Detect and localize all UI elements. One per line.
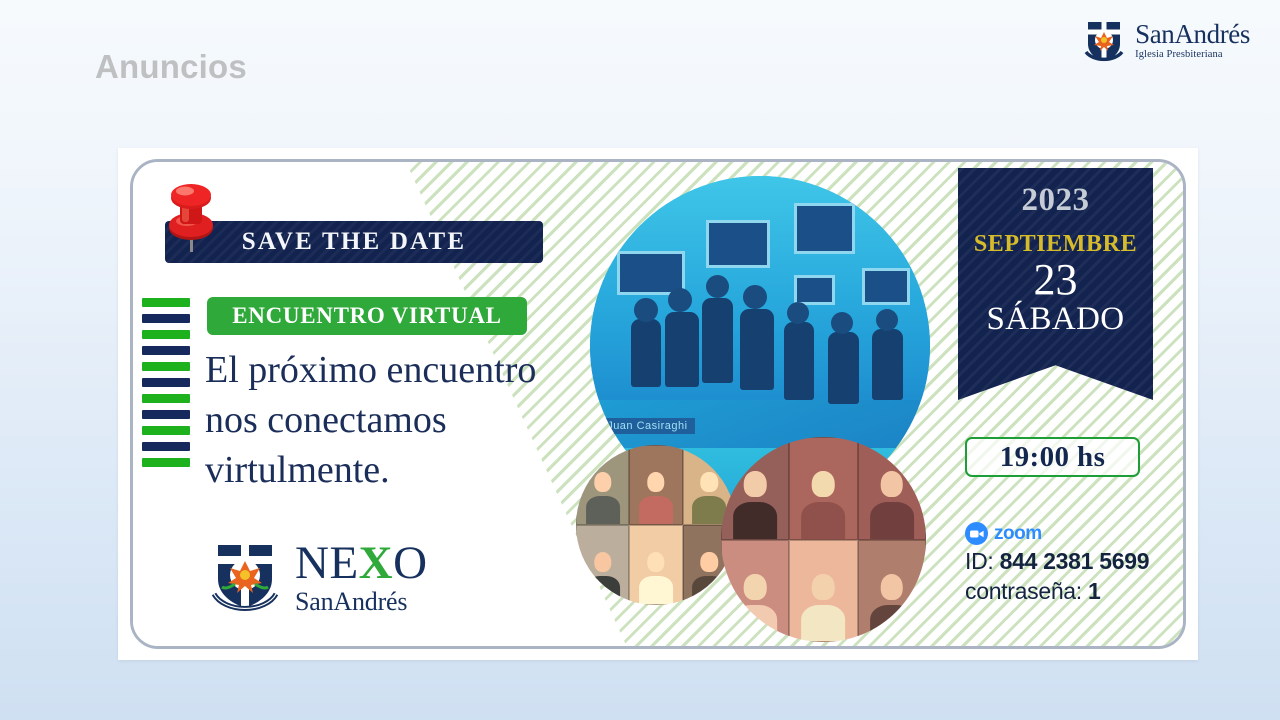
- zoom-wordmark: zoom: [994, 523, 1042, 545]
- tick-mark: [142, 458, 190, 467]
- tick-mark: [142, 330, 190, 339]
- nexo-word-pre: NE: [295, 537, 359, 589]
- shield-crest-icon: [209, 540, 281, 614]
- tick-mark: [142, 298, 190, 307]
- brand-subtitle: Iglesia Presbiteriana: [1135, 50, 1250, 61]
- nexo-subtitle: SanAndrés: [295, 589, 428, 614]
- page-header: Anuncios SanAndrés Iglesia Presbiteriana: [0, 0, 1280, 120]
- tick-mark: [142, 378, 190, 387]
- zoom-password: contraseña: 1: [965, 578, 1149, 605]
- brand-text: SanAndrés Iglesia Presbiteriana: [1135, 21, 1250, 61]
- tick-mark: [142, 362, 190, 371]
- photo-caption-overlay: Juan Casiraghi: [600, 418, 694, 434]
- page-title: Anuncios: [95, 48, 247, 86]
- zoom-id-prefix: ID:: [965, 548, 1000, 574]
- tick-mark: [142, 426, 190, 435]
- headline-line-1: El próximo encuentro: [205, 345, 625, 395]
- zoom-brand: zoom: [965, 522, 1149, 545]
- tick-mark: [142, 442, 190, 451]
- pushpin-icon: [161, 176, 223, 256]
- tick-mark: [142, 410, 190, 419]
- nexo-wordmark: NEXO SanAndrés: [295, 540, 428, 615]
- flyer-inner-frame: SAVE THE DATE ENCUENTRO VIRTUAL El próxi…: [130, 159, 1186, 649]
- tick-mark-stack: [142, 298, 190, 467]
- encuentro-virtual-label: ENCUENTRO VIRTUAL: [232, 303, 501, 329]
- flyer-card: SAVE THE DATE ENCUENTRO VIRTUAL El próxi…: [118, 148, 1198, 660]
- headline-line-2: nos conectamos: [205, 395, 625, 445]
- nexo-word: NEXO: [295, 540, 428, 586]
- time-badge: 19:00 hs: [965, 437, 1140, 477]
- nexo-word-post: O: [393, 537, 427, 589]
- encuentro-virtual-badge: ENCUENTRO VIRTUAL: [207, 297, 527, 335]
- tick-mark: [142, 346, 190, 355]
- zoom-password-prefix: contraseña:: [965, 578, 1088, 604]
- photo-zoom-grid-left: [576, 445, 736, 605]
- brand-logo: SanAndrés Iglesia Presbiteriana: [1082, 18, 1250, 64]
- nexo-logo: NEXO SanAndrés: [209, 540, 428, 615]
- ribbon-year: 2023: [958, 182, 1153, 219]
- brand-name: SanAndrés: [1135, 21, 1250, 48]
- shield-crest-icon: [1082, 18, 1126, 64]
- zoom-video-icon: [965, 522, 988, 545]
- ribbon-day: 23: [958, 258, 1153, 303]
- ribbon-month: SEPTIEMBRE: [958, 231, 1153, 258]
- zoom-info: zoom ID: 844 2381 5699 contraseña: 1: [965, 522, 1149, 605]
- time-label: 19:00 hs: [1000, 441, 1106, 474]
- ribbon-weekday: SÁBADO: [958, 303, 1153, 336]
- tick-mark: [142, 314, 190, 323]
- nexo-word-x: X: [359, 537, 393, 589]
- zoom-id-value: 844 2381 5699: [1000, 548, 1150, 574]
- headline-line-3: virtulmente.: [205, 445, 625, 495]
- tick-mark: [142, 394, 190, 403]
- save-the-date-label: SAVE THE DATE: [242, 228, 467, 256]
- zoom-password-value: 1: [1088, 578, 1101, 604]
- photo-zoom-grid-right: [721, 437, 926, 642]
- headline: El próximo encuentro nos conectamos virt…: [205, 345, 625, 495]
- zoom-meeting-id: ID: 844 2381 5699: [965, 548, 1149, 575]
